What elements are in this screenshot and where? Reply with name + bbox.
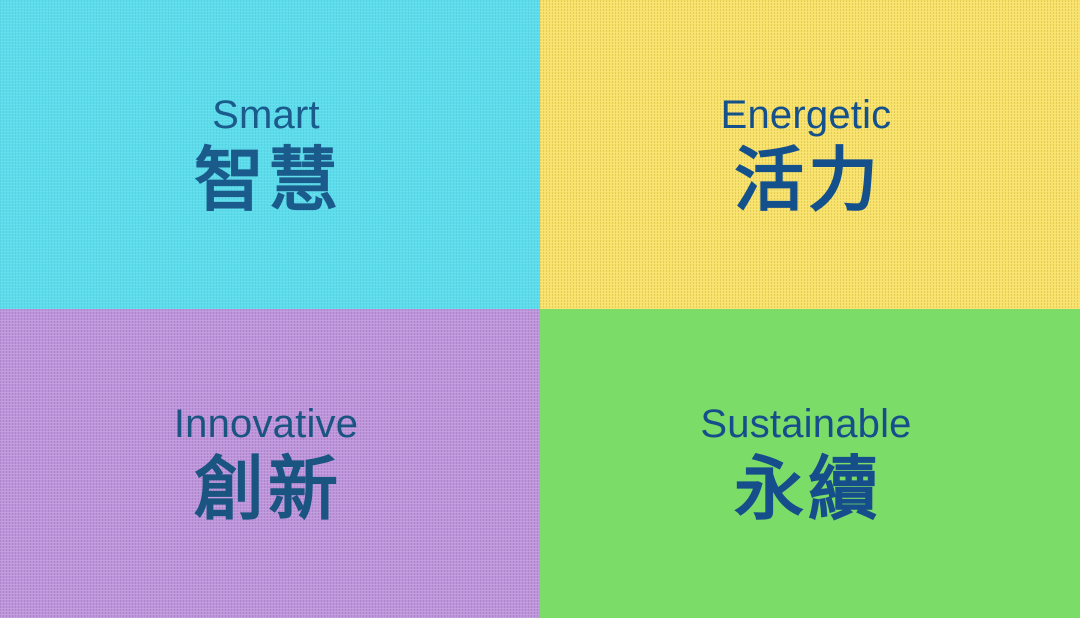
quadrant-sustainable[interactable]: Sustainable 永續 [540, 309, 1080, 618]
value-label-english: Energetic [721, 95, 892, 135]
value-label-english: Sustainable [700, 404, 911, 444]
quadrant-smart[interactable]: Smart 智慧 [0, 0, 540, 309]
value-text-block: Sustainable 永續 [700, 404, 911, 524]
quadrant-grid: Smart 智慧 Energetic 活力 Innovative 創新 Sust… [0, 0, 1080, 618]
quadrant-innovative[interactable]: Innovative 創新 [0, 309, 540, 618]
value-label-chinese: 永續 [730, 454, 882, 524]
value-label-chinese: 活力 [730, 145, 882, 215]
value-label-english: Innovative [174, 404, 358, 444]
value-text-block: Smart 智慧 [190, 95, 342, 215]
value-label-chinese: 創新 [190, 454, 342, 524]
value-text-block: Innovative 創新 [174, 404, 358, 524]
value-label-chinese: 智慧 [190, 145, 342, 215]
brand-values-board: Smart 智慧 Energetic 活力 Innovative 創新 Sust… [0, 0, 1080, 618]
value-text-block: Energetic 活力 [721, 95, 892, 215]
value-label-english: Smart [212, 95, 320, 135]
quadrant-energetic[interactable]: Energetic 活力 [540, 0, 1080, 309]
